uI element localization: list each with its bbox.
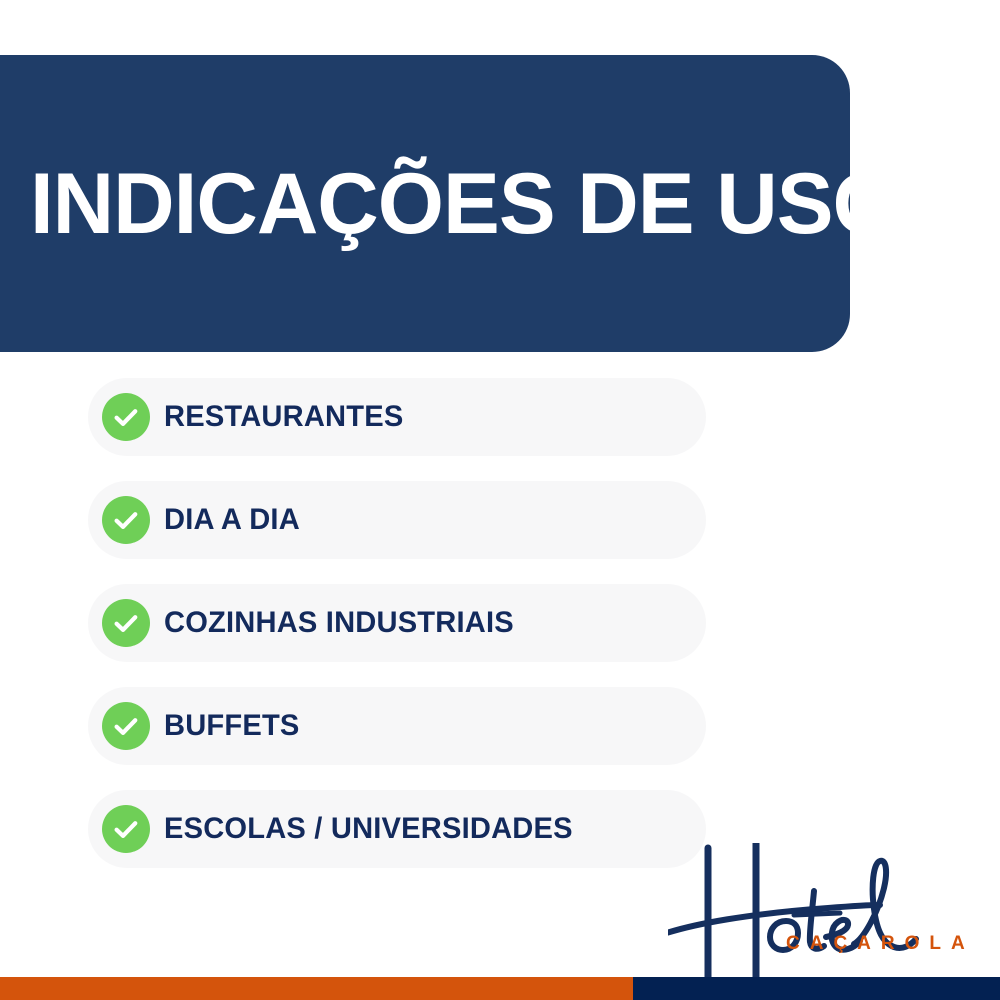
list-item-label: RESTAURANTES xyxy=(164,400,403,434)
list-item[interactable]: RESTAURANTES xyxy=(88,378,706,456)
list-item-label: COZINHAS INDUSTRIAIS xyxy=(164,606,514,640)
list-item[interactable]: ESCOLAS / UNIVERSIDADES xyxy=(88,790,706,868)
header-banner: INDICAÇÕES DE USO xyxy=(0,55,850,352)
list-item-label: DIA A DIA xyxy=(164,503,300,537)
check-circle-icon xyxy=(102,393,150,441)
check-circle-icon xyxy=(102,496,150,544)
list-item[interactable]: DIA A DIA xyxy=(88,481,706,559)
list-item-label: ESCOLAS / UNIVERSIDADES xyxy=(164,812,573,846)
hotel-script-wordmark-icon xyxy=(668,843,1000,983)
page-title: INDICAÇÕES DE USO xyxy=(30,161,898,247)
poster-canvas: INDICAÇÕES DE USO RESTAURANTES DIA A DIA xyxy=(0,0,1000,1000)
bottom-bar xyxy=(0,977,1000,1000)
brand-logo: CAÇAROLA xyxy=(668,843,1000,983)
bottom-bar-navy-segment xyxy=(633,977,1000,1000)
list-item[interactable]: COZINHAS INDUSTRIAIS xyxy=(88,584,706,662)
list-item[interactable]: BUFFETS xyxy=(88,687,706,765)
check-circle-icon xyxy=(102,805,150,853)
list-item-label: BUFFETS xyxy=(164,709,300,743)
logo-subtitle: CAÇAROLA xyxy=(786,933,975,955)
check-circle-icon xyxy=(102,599,150,647)
check-circle-icon xyxy=(102,702,150,750)
indications-list: RESTAURANTES DIA A DIA COZINHAS INDUSTRI… xyxy=(88,378,706,868)
bottom-bar-orange-segment xyxy=(0,977,633,1000)
